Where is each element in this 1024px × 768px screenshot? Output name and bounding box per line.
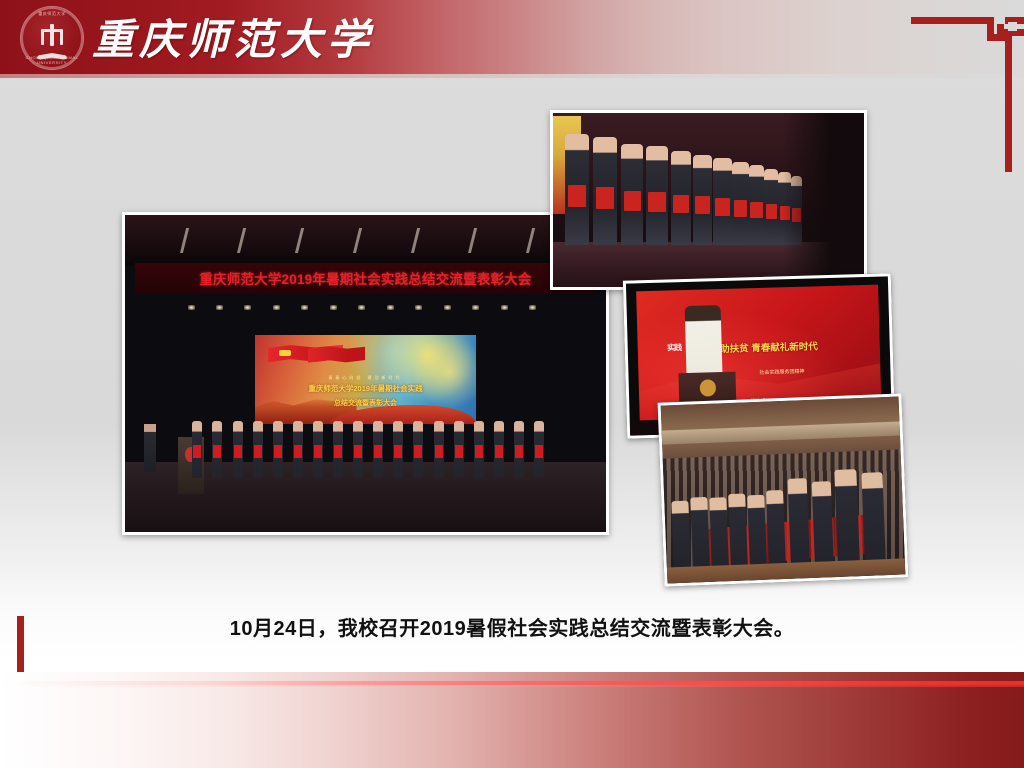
screen-headline: 助扶贫 青春献礼新时代 [720, 338, 818, 355]
stage-side-person [144, 424, 156, 472]
header-underline [0, 74, 1024, 78]
screen-logo: 实践 [667, 342, 681, 353]
awards-dark-edge [783, 113, 864, 287]
led-league-flag-icon [308, 346, 366, 364]
hall-ceiling [125, 215, 606, 266]
stage-lights [188, 305, 544, 315]
led-subtitle: 青春心向党 建功新时代 [255, 375, 476, 381]
led-title-line1: 重庆师范大学2019年暑期社会实践 [255, 383, 476, 394]
corner-ornament-top-right-icon [884, 0, 1024, 172]
presentation-slide: 重庆师范大学 CHONGQING NORMAL UNIVERSITY 重庆师范大… [0, 0, 1024, 768]
slide-footer-band [0, 672, 1024, 768]
stage-banner-text: 重庆师范大学2019年暑期社会实践总结交流暨表彰大会 [199, 268, 531, 288]
photo-award-recipients [550, 110, 867, 290]
photo-auditorium-audience [658, 393, 909, 586]
footer-highlight-line-secondary [0, 685, 1024, 687]
seal-emblem-icon [35, 22, 69, 52]
photo-stage-award-ceremony: 重庆师范大学2019年暑期社会实践总结交流暨表彰大会 青春心向党 建功新时代 重… [122, 212, 609, 535]
screen-subtitle: 社会实践服务团精神 [759, 367, 804, 375]
led-screen: 青春心向党 建功新时代 重庆师范大学2019年暑期社会实践 总结交流暨表彰大会 [255, 335, 476, 424]
slide-header: 重庆师范大学 CHONGQING NORMAL UNIVERSITY 重庆师范大… [0, 0, 1024, 74]
slide-caption: 10月24日，我校召开2019暑假社会实践总结交流暨表彰大会。 [0, 612, 1024, 641]
seal-ring-top-text: 重庆师范大学 [21, 11, 83, 17]
award-recipients-line [192, 421, 558, 478]
university-wordmark: 重庆师范大学 [92, 6, 374, 66]
seal-ring-bottom-text: CHONGQING NORMAL UNIVERSITY [21, 55, 83, 65]
led-title-line2: 总结交流暨表彰大会 [255, 398, 476, 408]
stage-banner: 重庆师范大学2019年暑期社会实践总结交流暨表彰大会 [135, 263, 597, 295]
university-seal-icon: 重庆师范大学 CHONGQING NORMAL UNIVERSITY [20, 6, 84, 70]
